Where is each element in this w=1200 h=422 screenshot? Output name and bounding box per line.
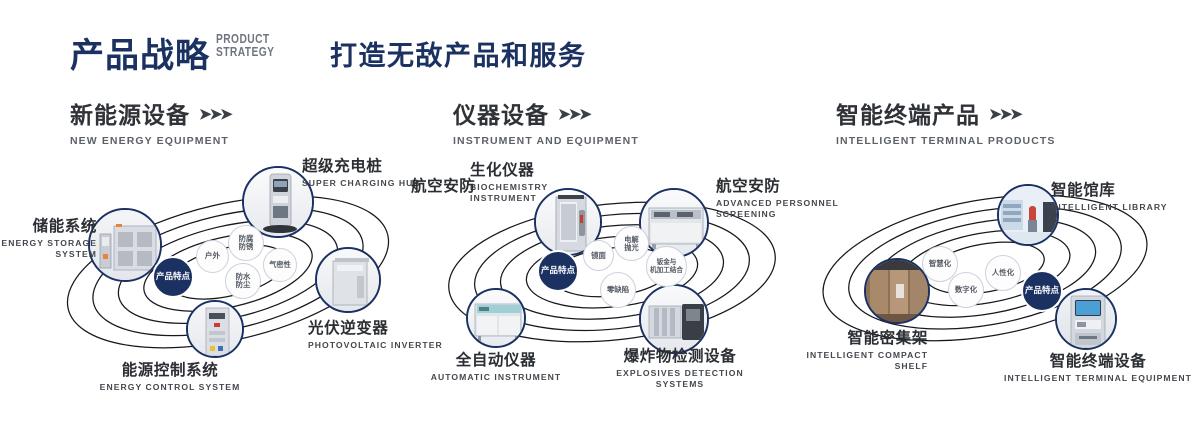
feature-bubble-airtight[interactable]: 气密性 (263, 248, 297, 282)
core-bubble-product-features-2[interactable]: 产品特点 (539, 252, 577, 290)
photo-pv-inverter (317, 249, 379, 311)
infographic-canvas: 产品战略 PRODUCT STRATEGY 打造无敌产品和服务 新能源设备➤➤➤… (0, 0, 1200, 422)
node-automatic-instrument[interactable] (466, 288, 526, 348)
feature-bubble-electropolishing[interactable]: 电解 抛光 (614, 226, 649, 261)
core-bubble-product-features-1[interactable]: 产品特点 (154, 258, 192, 296)
photo-automatic-instrument (468, 290, 524, 346)
photo-personnel-screening (641, 190, 707, 256)
label-energy-control-system: 能源控制系统 ENERGY CONTROL SYSTEM (82, 362, 258, 393)
feature-bubble-mirror-finish[interactable]: 镜面 (583, 240, 614, 271)
node-intelligent-compact-shelf[interactable] (864, 258, 930, 324)
label-photovoltaic-inverter: 光伏逆变器 PHOTOVOLTAIC INVERTER (308, 320, 443, 351)
label-biochemistry-instrument: 生化仪器 BIOCHEMISTRY INSTRUMENT (470, 162, 548, 203)
feature-bubble-zero-defect[interactable]: 零缺陷 (600, 272, 636, 308)
label-explosives-detection-systems: 爆炸物检测设备 EXPLOSIVES DETECTION SYSTEMS (592, 348, 768, 389)
photo-intelligent-terminal (1057, 290, 1115, 348)
feature-bubble-waterproof[interactable]: 防水 防尘 (225, 263, 261, 299)
label-energy-storage-system: 储能系统 ENERGY STORAGE SYSTEM (0, 218, 97, 259)
feature-bubble-humanized[interactable]: 人性化 (985, 255, 1021, 291)
node-photovoltaic-inverter[interactable] (315, 247, 381, 313)
photo-energy-control (188, 302, 242, 356)
label-automatic-instrument: 全自动仪器 AUTOMATIC INSTRUMENT (410, 352, 582, 383)
label-super-charging-hub: 超级充电桩 SUPER CHARGING HUB (302, 158, 421, 189)
label-advanced-personnel-screening: 航空安防 ADVANCED PERSONNEL SCREENING (716, 178, 839, 219)
node-energy-storage-system[interactable] (88, 208, 162, 282)
feature-bubble-outdoor[interactable]: 户外 (196, 240, 229, 273)
photo-intelligent-library (999, 186, 1057, 244)
label-aviation-security-overlay: 航空安防 (411, 178, 475, 196)
label-intelligent-terminal-equipment: 智能终端设备 INTELLIGENT TERMINAL EQUIPMENT (1000, 353, 1196, 384)
node-intelligent-terminal-equipment[interactable] (1055, 288, 1117, 350)
node-explosives-detection-systems[interactable] (639, 284, 709, 354)
photo-explosives-detection (641, 286, 707, 352)
feature-bubble-anticorrosion[interactable]: 防腐 防锈 (228, 225, 264, 261)
feature-bubble-sheetmetal-machining[interactable]: 钣金与 机加工结合 (646, 246, 687, 287)
feature-bubble-digital[interactable]: 数字化 (948, 272, 984, 308)
label-intelligent-library: 智能馆库 INTELLIGENT LIBRARY (1051, 182, 1168, 213)
photo-compact-shelf (866, 260, 928, 322)
node-intelligent-library[interactable] (997, 184, 1059, 246)
core-bubble-product-features-3[interactable]: 产品特点 (1023, 272, 1061, 310)
photo-energy-storage (90, 210, 160, 280)
label-intelligent-compact-shelf: 智能密集架 INTELLIGENT COMPACT SHELF (798, 330, 928, 371)
node-energy-control-system[interactable] (186, 300, 244, 358)
